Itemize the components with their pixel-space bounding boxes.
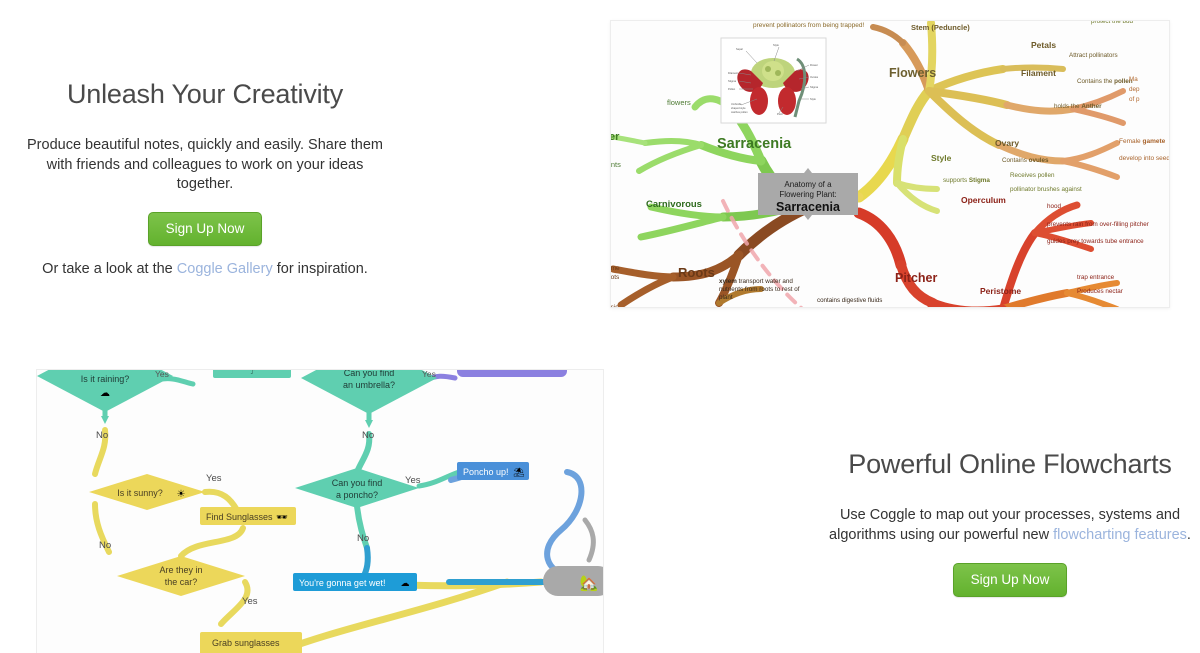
svg-text:Anatomy of a: Anatomy of a <box>784 180 832 189</box>
svg-text:contains digestive fluids: contains digestive fluids <box>817 297 882 304</box>
svg-text:shaped style: shaped style <box>731 106 746 110</box>
edge-label-yes: Yes <box>206 473 222 484</box>
svg-text:Style: Style <box>810 97 816 101</box>
gallery-suffix: for inspiration. <box>273 261 368 277</box>
svg-text:Female gamete: Female gamete <box>1119 138 1166 145</box>
flow-node-youre-gonna-get-wet: You're gonna get wet! ☁ <box>293 573 417 591</box>
signup-button-creativity-wrap: Sign Up Now <box>20 212 390 247</box>
flowcharting-features-link[interactable]: flowcharting features <box>1053 527 1187 543</box>
svg-text:Filament: Filament <box>1021 68 1056 78</box>
svg-text:Grab sunglasses: Grab sunglasses <box>212 638 280 648</box>
svg-text:Stigma: Stigma <box>810 85 819 89</box>
promo-section-creativity: Unleash Your Creativity Produce beautifu… <box>20 78 390 279</box>
svg-text:Pitcher: Pitcher <box>895 271 938 285</box>
svg-text:You're gonna get wet!: You're gonna get wet! <box>299 578 385 588</box>
svg-text:er: er <box>611 131 620 143</box>
svg-text:Receives pollen: Receives pollen <box>1010 172 1055 179</box>
promo-section-flowcharts: Powerful Online Flowcharts Use Coggle to… <box>820 448 1200 597</box>
svg-text:Style: Style <box>773 43 779 47</box>
svg-text:Attract pollinators: Attract pollinators <box>1069 52 1118 59</box>
svg-text:hood: hood <box>1047 203 1062 210</box>
svg-text:guides prey towards tube entra: guides prey towards tube entrance <box>1047 238 1144 245</box>
svg-text:Yes: Yes <box>155 370 169 379</box>
svg-text:pollinator brushes against: pollinator brushes against <box>1010 186 1082 193</box>
svg-text:Find Sunglasses: Find Sunglasses <box>206 512 273 522</box>
svg-text:Carnivorous: Carnivorous <box>646 199 702 210</box>
edge-label-no: No <box>362 430 374 441</box>
svg-text:develop into seeds: develop into seeds <box>1119 155 1170 162</box>
svg-text:☁: ☁ <box>401 578 410 588</box>
flower-photo-thumbnail: Sepal Style Filament Stigma Pollen Flowe… <box>721 38 826 123</box>
svg-text:Sarracenia: Sarracenia <box>717 136 792 152</box>
page-title-creativity: Unleash Your Creativity <box>20 78 390 110</box>
svg-text:🏡: 🏡 <box>580 575 599 592</box>
sign-up-now-button-bottom[interactable]: Sign Up Now <box>953 563 1068 598</box>
coggle-gallery-link[interactable]: Coggle Gallery <box>177 261 273 277</box>
svg-text:Pollen: Pollen <box>728 87 736 91</box>
promo-body-creativity: Produce beautiful notes, quickly and eas… <box>20 136 390 193</box>
svg-text:nutrients from roots to rest o: nutrients from roots to rest of <box>719 286 800 293</box>
svg-text:Contains the pollen: Contains the pollen <box>1077 78 1133 85</box>
svg-text:Are they in: Are they in <box>159 565 202 575</box>
edge-label-no: No <box>96 430 108 441</box>
svg-text:⛱: ⛱ <box>513 467 524 477</box>
svg-text:flowers: flowers <box>667 98 691 107</box>
gallery-prefix: Or take a look at the <box>42 261 177 277</box>
svg-text:Style: Style <box>931 153 952 163</box>
svg-text:Flowers: Flowers <box>889 66 936 80</box>
svg-text:Poncho up!: Poncho up! <box>463 467 509 477</box>
svg-text:☁: ☁ <box>100 388 110 399</box>
svg-text:osis: osis <box>611 304 619 308</box>
flowchart-screenshot[interactable]: Is it raining? ☁ Yes ☂ Can you find an u… <box>36 369 604 653</box>
svg-text:Can you find: Can you find <box>344 370 395 378</box>
svg-text:oots: oots <box>611 274 620 281</box>
svg-text:catches pollen: catches pollen <box>731 110 748 114</box>
svg-text:Stigma: Stigma <box>728 79 737 83</box>
mindmap-screenshot[interactable]: Sepal Style Filament Stigma Pollen Flowe… <box>610 20 1170 308</box>
svg-text:Peristome: Peristome <box>980 286 1021 296</box>
flow-node-umbrella-box: ☂ <box>213 370 291 378</box>
flow-node-poncho-up: Poncho up! ⛱ <box>457 462 529 480</box>
svg-text:of p: of p <box>1129 96 1140 103</box>
svg-text:Filament: Filament <box>728 71 738 75</box>
svg-text:Sarracenia: Sarracenia <box>776 200 841 214</box>
edge-label-yes: Yes <box>242 596 258 607</box>
signup-button-flowcharts-wrap: Sign Up Now <box>820 563 1200 598</box>
svg-text:Produces nectar: Produces nectar <box>1077 288 1123 295</box>
promo-body-flowcharts: Use Coggle to map out your processes, sy… <box>820 506 1200 544</box>
svg-text:Umbrella: Umbrella <box>731 102 742 106</box>
edge-label-no: No <box>357 533 369 544</box>
svg-text:prevents rain from over-fillin: prevents rain from over-filling pitcher <box>1047 221 1149 228</box>
svg-text:trap entrance: trap entrance <box>1077 274 1115 281</box>
svg-text:Petals: Petals <box>1031 40 1056 50</box>
svg-text:prevent pollinators from being: prevent pollinators from being trapped! <box>753 22 864 29</box>
flow-node-grab-sunglasses: Grab sunglasses <box>200 632 302 653</box>
svg-text:supports Stigma: supports Stigma <box>943 177 990 184</box>
svg-text:protect the bud: protect the bud <box>1091 21 1134 25</box>
svg-text:Pistil: Pistil <box>777 112 783 116</box>
svg-text:🕶: 🕶 <box>276 512 288 522</box>
svg-text:dep: dep <box>1129 86 1140 93</box>
page-title-flowcharts: Powerful Online Flowcharts <box>820 448 1200 480</box>
svg-text:lants: lants <box>611 160 621 169</box>
svg-text:an umbrella?: an umbrella? <box>343 380 395 390</box>
svg-text:xylem transport water and: xylem transport water and <box>719 278 793 285</box>
svg-text:the car?: the car? <box>165 577 198 587</box>
svg-text:Stem (Peduncle): Stem (Peduncle) <box>911 23 970 32</box>
svg-text:Roots: Roots <box>678 265 715 280</box>
svg-text:Ma: Ma <box>1129 76 1138 83</box>
svg-text:Operculum: Operculum <box>961 195 1006 205</box>
svg-text:Ovary: Ovary <box>995 138 1019 148</box>
edge-label-no: No <box>99 540 111 551</box>
flow-node-purple-box <box>457 370 567 377</box>
svg-text:Is it sunny?: Is it sunny? <box>117 488 163 498</box>
svg-text:☂: ☂ <box>247 370 257 377</box>
gallery-line: Or take a look at the Coggle Gallery for… <box>20 260 390 279</box>
svg-text:Yes: Yes <box>422 370 436 379</box>
svg-text:Flower: Flower <box>810 63 818 67</box>
svg-text:Is it raining?: Is it raining? <box>81 374 130 384</box>
svg-text:Sepal: Sepal <box>736 47 743 51</box>
svg-text:ome: ome <box>611 265 620 272</box>
svg-text:☀: ☀ <box>177 489 186 500</box>
svg-text:plant: plant <box>719 294 733 301</box>
sign-up-now-button-top[interactable]: Sign Up Now <box>148 212 263 247</box>
landing-page: Unleash Your Creativity Produce beautifu… <box>0 0 1200 653</box>
svg-text:Contains ovules: Contains ovules <box>1002 157 1049 164</box>
svg-text:a poncho?: a poncho? <box>336 490 378 500</box>
flow-node-home: 🏡 <box>543 566 604 596</box>
flowcharts-body-suffix: . <box>1187 527 1191 543</box>
svg-text:Flowering Plant:: Flowering Plant: <box>779 190 836 199</box>
svg-text:Can you find: Can you find <box>332 478 383 488</box>
svg-text:holds the Anther: holds the Anther <box>1054 103 1102 110</box>
flow-node-find-sunglasses: Find Sunglasses 🕶 <box>200 507 296 525</box>
mindmap-center-node: Anatomy of a Flowering Plant: Sarracenia <box>758 168 858 220</box>
svg-text:Ovules: Ovules <box>810 75 819 79</box>
